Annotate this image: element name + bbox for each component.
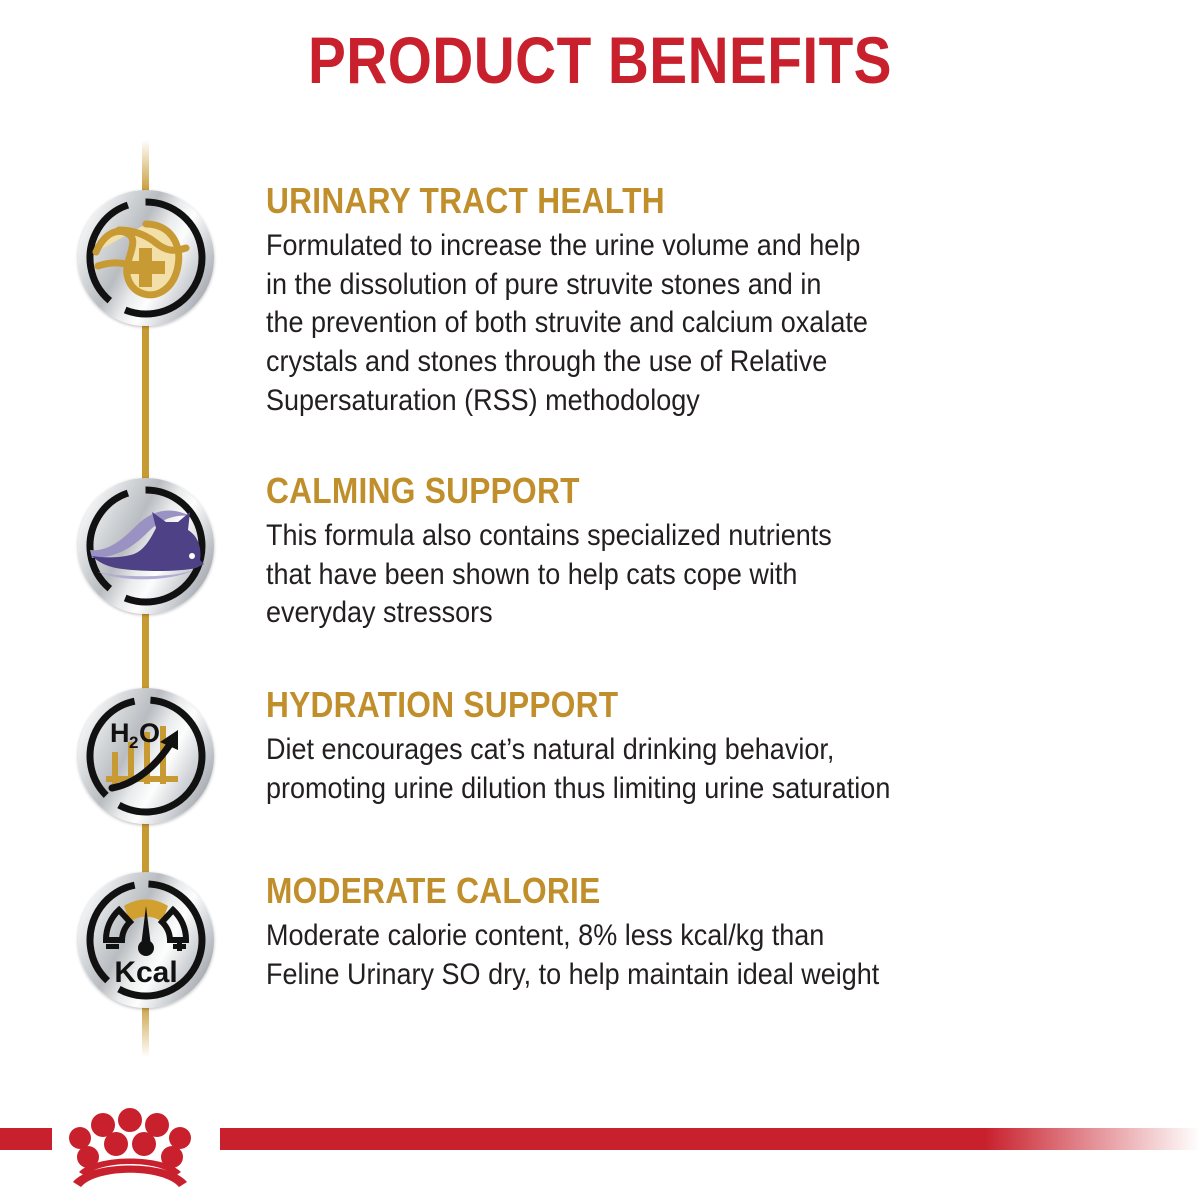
benefit-heading: CALMING SUPPORT — [266, 472, 1076, 511]
timeline-rail-segment-1 — [142, 305, 149, 495]
svg-text:O: O — [139, 718, 160, 748]
benefit-hydration-support: HYDRATION SUPPORT Diet encourages cat’s … — [266, 686, 1186, 808]
kcal-gauge-icon: Kcal — [78, 872, 214, 1008]
hydration-h2o-chart-icon: H 2 O — [78, 688, 214, 824]
calming-cat-icon — [78, 478, 214, 614]
footer-bar-right — [220, 1128, 1200, 1150]
svg-text:Kcal: Kcal — [114, 956, 177, 989]
urinary-tract-icon — [78, 190, 214, 326]
benefit-urinary-tract-health: URINARY TRACT HEALTH Formulated to incre… — [266, 182, 1186, 420]
benefit-calming-support: CALMING SUPPORT This formula also contai… — [266, 472, 1186, 633]
footer — [0, 1108, 1200, 1199]
benefit-heading: MODERATE CALORIE — [266, 872, 1076, 911]
benefit-body: Diet encourages cat’s natural drinking b… — [266, 731, 1185, 808]
footer-bar-left — [0, 1128, 52, 1150]
benefit-body: This formula also contains specialized n… — [266, 517, 1185, 633]
svg-text:H: H — [110, 718, 130, 748]
benefits-timeline: H 2 O Kcal — [0, 0, 260, 1080]
benefit-heading: URINARY TRACT HEALTH — [266, 182, 1076, 221]
benefit-body: Formulated to increase the urine volume … — [266, 227, 1185, 420]
svg-text:2: 2 — [129, 733, 138, 752]
benefit-body: Moderate calorie content, 8% less kcal/k… — [266, 917, 1185, 994]
royal-canin-crown-logo — [55, 1100, 205, 1195]
benefit-heading: HYDRATION SUPPORT — [266, 686, 1076, 725]
benefit-moderate-calorie: MODERATE CALORIE Moderate calorie conten… — [266, 872, 1186, 994]
